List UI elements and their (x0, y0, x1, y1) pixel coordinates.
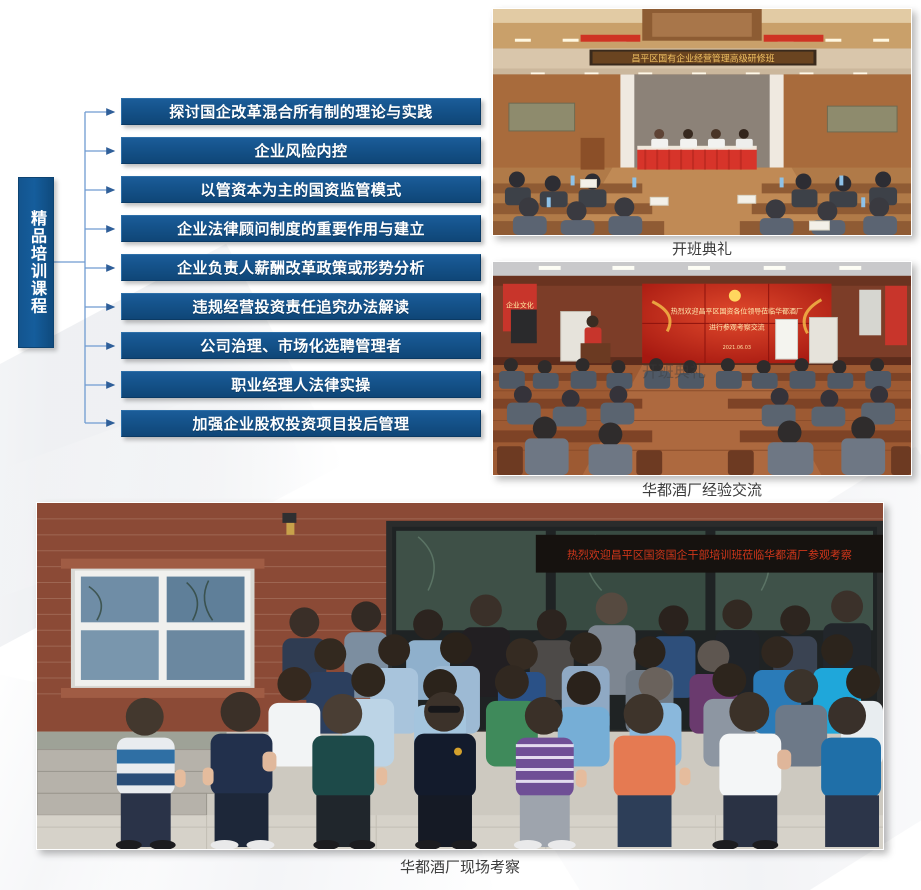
course-item-label: 企业负责人薪酬改革政策或形势分析 (177, 257, 425, 278)
course-item-1[interactable]: 探讨国企改革混合所有制的理论与实践 (121, 98, 481, 125)
course-item-label: 企业法律顾问制度的重要作用与建立 (177, 218, 425, 239)
course-item-6[interactable]: 违规经营投资责任追究办法解读 (121, 293, 481, 320)
course-item-label: 公司治理、市场化选聘管理者 (200, 335, 402, 356)
course-item-5[interactable]: 企业负责人薪酬改革政策或形势分析 (121, 254, 481, 281)
svg-text:企业文化: 企业文化 (506, 301, 534, 310)
course-item-label: 加强企业股权投资项目投后管理 (192, 413, 409, 434)
course-item-label: 以管资本为主的国资监管模式 (200, 179, 402, 200)
flowchart-root-label: 精品培训课程 (28, 210, 44, 315)
photo-huadu-exchange: 企业文化 热烈欢迎昌平区国资各位领导莅临华都酒厂 (492, 261, 912, 476)
svg-text:昌平区国有企业经营管理高级研修班: 昌平区国有企业经营管理高级研修班 (631, 53, 774, 65)
course-item-2[interactable]: 企业风险内控 (121, 137, 481, 164)
course-item-label: 企业风险内控 (254, 140, 347, 161)
course-item-label: 违规经营投资责任追究办法解读 (192, 296, 409, 317)
svg-text:热烈欢迎昌平区国资各位领导莅临华都酒厂: 热烈欢迎昌平区国资各位领导莅临华都酒厂 (671, 307, 803, 316)
course-item-9[interactable]: 加强企业股权投资项目投后管理 (121, 410, 481, 437)
svg-text:进行参观考察交流: 进行参观考察交流 (709, 322, 765, 331)
photo-opening-ceremony: 昌平区国有企业经营管理高级研修班 (492, 8, 912, 236)
photo-huadu-visit: 热烈欢迎昌平区国资国企干部培训班莅临华都酒厂参观考察 (36, 502, 884, 850)
course-item-7[interactable]: 公司治理、市场化选聘管理者 (121, 332, 481, 359)
svg-text:2021.06.03: 2021.06.03 (723, 345, 751, 351)
course-item-label: 探讨国企改革混合所有制的理论与实践 (169, 101, 433, 122)
photo-caption-huadu-visit: 华都酒厂现场考察 (36, 856, 884, 877)
photo-caption-huadu-exchange: 华都酒厂经验交流 (492, 479, 912, 500)
photo-caption-opening-ceremony: 开班典礼 (492, 238, 912, 259)
course-item-label: 职业经理人法律实操 (231, 374, 371, 395)
slide-canvas: 精品培训课程 探讨国企改革混合所有制的理论与实践 企业风险内控 以管资本为主的国… (0, 0, 921, 890)
course-item-4[interactable]: 企业法律顾问制度的重要作用与建立 (121, 215, 481, 242)
svg-text:热烈欢迎昌平区国资国企干部培训班莅临华都酒厂参观考察: 热烈欢迎昌平区国资国企干部培训班莅临华都酒厂参观考察 (567, 548, 852, 562)
course-item-3[interactable]: 以管资本为主的国资监管模式 (121, 176, 481, 203)
course-item-8[interactable]: 职业经理人法律实操 (121, 371, 481, 398)
flowchart-root-node[interactable]: 精品培训课程 (18, 177, 54, 348)
